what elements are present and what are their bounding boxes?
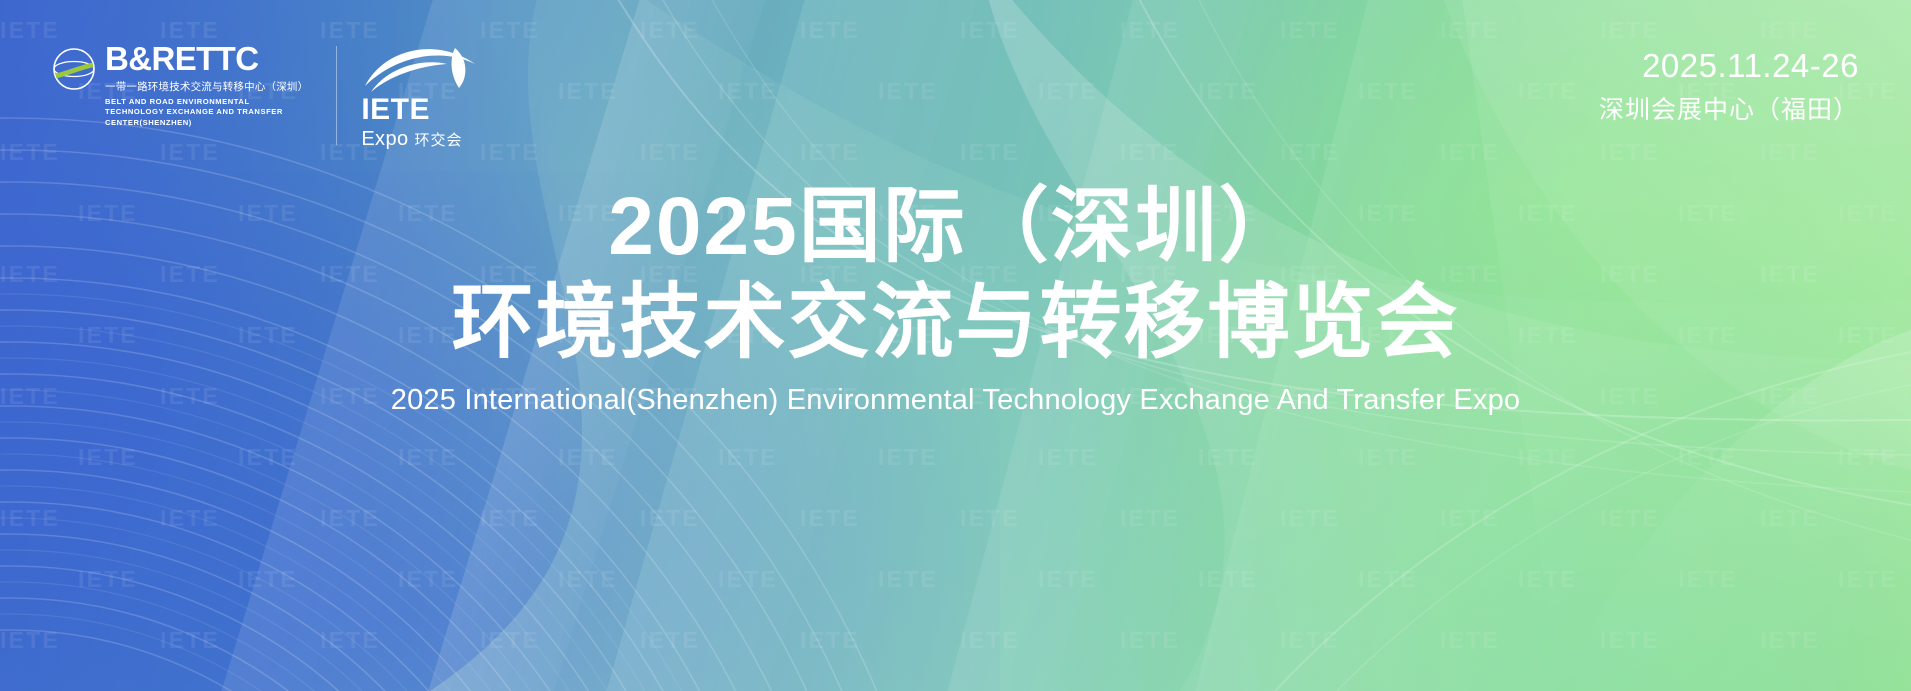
iete-expo-logo: IETE Expo 环交会 — [361, 40, 489, 151]
watermark-text: IETE — [480, 505, 640, 532]
watermark-text: IETE — [1440, 17, 1600, 44]
event-meta: 2025.11.24-26 深圳会展中心（福田） — [1599, 48, 1859, 126]
watermark-text: IETE — [640, 17, 800, 44]
brettc-english-name: BELT AND ROAD ENVIRONMENTAL TECHNOLOGY E… — [105, 97, 308, 128]
watermark-text: IETE — [960, 627, 1120, 654]
watermark-text: IETE — [640, 139, 800, 166]
watermark-text: IETE — [960, 139, 1120, 166]
watermark-text: IETE — [1120, 139, 1280, 166]
watermark-text: IETE — [1198, 566, 1358, 593]
brettc-chinese-name: 一带一路环境技术交流与转移中心（深圳） — [105, 79, 308, 94]
watermark-row: IETEIETEIETEIETEIETEIETEIETEIETEIETEIETE… — [78, 671, 1911, 691]
watermark-text: IETE — [558, 444, 718, 471]
brettc-english-line-1: BELT AND ROAD ENVIRONMENTAL — [105, 97, 308, 107]
watermark-text: IETE — [800, 627, 960, 654]
iete-sub: Expo 环交会 — [361, 128, 462, 151]
watermark-text: IETE — [640, 505, 800, 532]
leaf-swoosh-icon — [363, 42, 489, 94]
watermark-text: IETE — [0, 505, 160, 532]
watermark-text: IETE — [1678, 444, 1838, 471]
watermark-text: IETE — [960, 17, 1120, 44]
event-title-english: 2025 International(Shenzhen) Environment… — [0, 384, 1911, 417]
event-title-line-2: 环境技术交流与转移博览会 — [0, 281, 1911, 365]
watermark-text: IETE — [800, 505, 960, 532]
brettc-logo: B&RETTC 一带一路环境技术交流与转移中心（深圳） BELT AND ROA… — [52, 40, 308, 128]
watermark-text: IETE — [480, 17, 640, 44]
watermark-text: IETE — [1120, 505, 1280, 532]
watermark-text: IETE — [398, 444, 558, 471]
watermark-text: IETE — [1280, 627, 1440, 654]
watermark-text: IETE — [160, 505, 320, 532]
watermark-text: IETE — [480, 139, 640, 166]
watermark-row: IETEIETEIETEIETEIETEIETEIETEIETEIETEIETE… — [78, 427, 1911, 488]
watermark-text: IETE — [1038, 78, 1198, 105]
watermark-text: IETE — [1760, 505, 1911, 532]
brettc-english-line-2: TECHNOLOGY EXCHANGE AND TRANSFER — [105, 107, 308, 117]
watermark-text: IETE — [320, 505, 480, 532]
watermark-text: IETE — [1440, 627, 1600, 654]
watermark-text: IETE — [1440, 505, 1600, 532]
watermark-text: IETE — [800, 139, 960, 166]
iete-name: IETE — [361, 95, 430, 125]
watermark-text: IETE — [1600, 17, 1760, 44]
watermark-text: IETE — [878, 78, 1038, 105]
watermark-text: IETE — [1518, 566, 1678, 593]
watermark-text: IETE — [480, 627, 640, 654]
watermark-text: IETE — [1600, 505, 1760, 532]
iete-expo-label: Expo — [361, 128, 408, 151]
watermark-text: IETE — [1120, 17, 1280, 44]
watermark-text: IETE — [1600, 139, 1760, 166]
watermark-text: IETE — [78, 444, 238, 471]
watermark-text: IETE — [1600, 627, 1760, 654]
watermark-text: IETE — [1440, 139, 1600, 166]
watermark-text: IETE — [800, 17, 960, 44]
watermark-text: IETE — [320, 627, 480, 654]
watermark-text: IETE — [1038, 444, 1198, 471]
event-venue: 深圳会展中心（福田） — [1599, 90, 1859, 126]
watermark-row: IETEIETEIETEIETEIETEIETEIETEIETEIETEIETE… — [0, 488, 1911, 549]
watermark-text: IETE — [718, 444, 878, 471]
watermark-text: IETE — [1358, 78, 1518, 105]
watermark-text: IETE — [1518, 444, 1678, 471]
watermark-text: IETE — [878, 566, 1038, 593]
watermark-text: IETE — [1038, 566, 1198, 593]
watermark-text: IETE — [558, 566, 718, 593]
watermark-text: IETE — [640, 627, 800, 654]
watermark-text: IETE — [1280, 505, 1440, 532]
watermark-text: IETE — [1198, 444, 1358, 471]
watermark-text: IETE — [78, 566, 238, 593]
watermark-text: IETE — [1838, 444, 1911, 471]
watermark-text: IETE — [1760, 139, 1911, 166]
brettc-name: B&RETTC — [105, 42, 308, 75]
watermark-row: IETEIETEIETEIETEIETEIETEIETEIETEIETEIETE… — [78, 549, 1911, 610]
globe-with-green-band-icon — [52, 47, 96, 91]
watermark-text: IETE — [1120, 627, 1280, 654]
event-title-block: 2025国际（深圳） 环境技术交流与转移博览会 2025 Internation… — [0, 185, 1911, 417]
watermark-text: IETE — [1760, 17, 1911, 44]
watermark-text: IETE — [718, 78, 878, 105]
watermark-text: IETE — [1358, 444, 1518, 471]
watermark-text: IETE — [1838, 566, 1911, 593]
watermark-text: IETE — [398, 566, 558, 593]
event-title-line-1: 2025国际（深圳） — [0, 185, 1911, 269]
brettc-english-line-3: CENTER(SHENZHEN) — [105, 118, 308, 128]
watermark-text: IETE — [238, 566, 398, 593]
watermark-text: IETE — [1280, 139, 1440, 166]
logo-divider — [336, 46, 337, 145]
watermark-text: IETE — [1198, 78, 1358, 105]
watermark-text: IETE — [0, 627, 160, 654]
watermark-text: IETE — [1678, 566, 1838, 593]
logo-bar: B&RETTC 一带一路环境技术交流与转移中心（深圳） BELT AND ROA… — [52, 40, 489, 151]
event-banner: IETEIETEIETEIETEIETEIETEIETEIETEIETEIETE… — [0, 0, 1911, 691]
iete-chinese-label: 环交会 — [415, 129, 463, 150]
brettc-logo-text: B&RETTC 一带一路环境技术交流与转移中心（深圳） BELT AND ROA… — [105, 40, 308, 128]
watermark-text: IETE — [160, 627, 320, 654]
watermark-text: IETE — [718, 566, 878, 593]
watermark-text: IETE — [1280, 17, 1440, 44]
watermark-row: IETEIETEIETEIETEIETEIETEIETEIETEIETEIETE… — [0, 610, 1911, 671]
watermark-text: IETE — [1358, 566, 1518, 593]
watermark-text: IETE — [1760, 627, 1911, 654]
watermark-text: IETE — [238, 444, 398, 471]
watermark-text: IETE — [960, 505, 1120, 532]
watermark-text: IETE — [558, 78, 718, 105]
watermark-text: IETE — [878, 444, 1038, 471]
event-date: 2025.11.24-26 — [1599, 48, 1859, 85]
